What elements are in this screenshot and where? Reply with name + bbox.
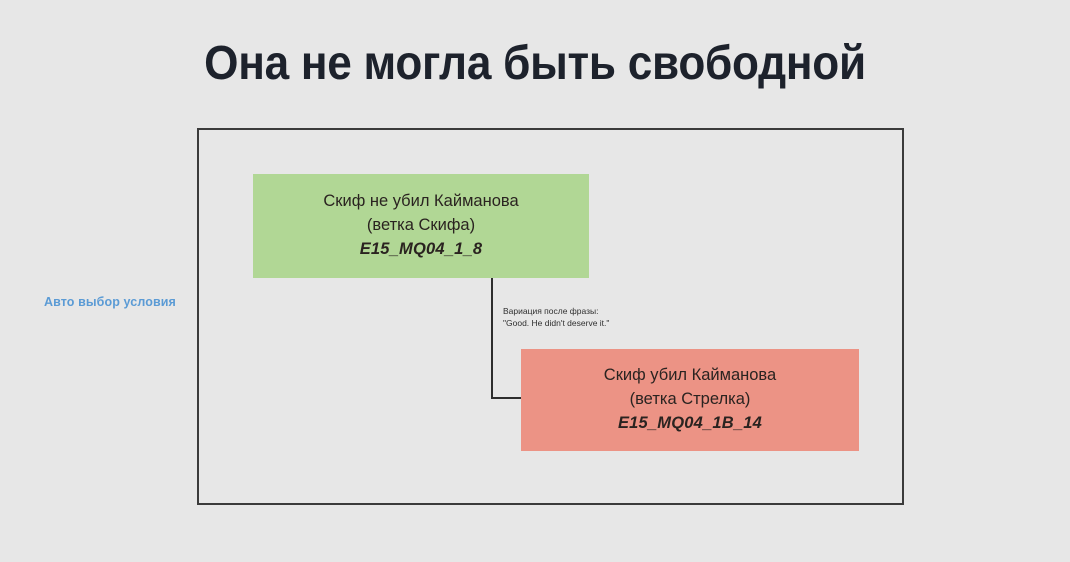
edge-note: Вариация после фразы: "Good. He didn't d… — [503, 305, 609, 330]
edge-note-line-2: "Good. He didn't deserve it." — [503, 317, 609, 329]
node-line-2: (ветка Стрелка) — [630, 388, 751, 411]
node-skif-killed[interactable]: Скиф убил Кайманова (ветка Стрелка) E15_… — [521, 349, 859, 451]
node-line-1: Скиф не убил Кайманова — [323, 190, 518, 213]
node-line-1: Скиф убил Кайманова — [604, 364, 776, 387]
edge-note-line-1: Вариация после фразы: — [503, 305, 609, 317]
node-code: E15_MQ04_1_8 — [360, 238, 483, 261]
node-code: E15_MQ04_1B_14 — [618, 412, 762, 435]
page-title: Она не могла быть свободной — [43, 36, 1027, 91]
auto-condition-label: Авто выбор условия — [44, 295, 176, 309]
node-skif-not-killed[interactable]: Скиф не убил Кайманова (ветка Скифа) E15… — [253, 174, 589, 278]
node-line-2: (ветка Скифа) — [367, 214, 475, 237]
